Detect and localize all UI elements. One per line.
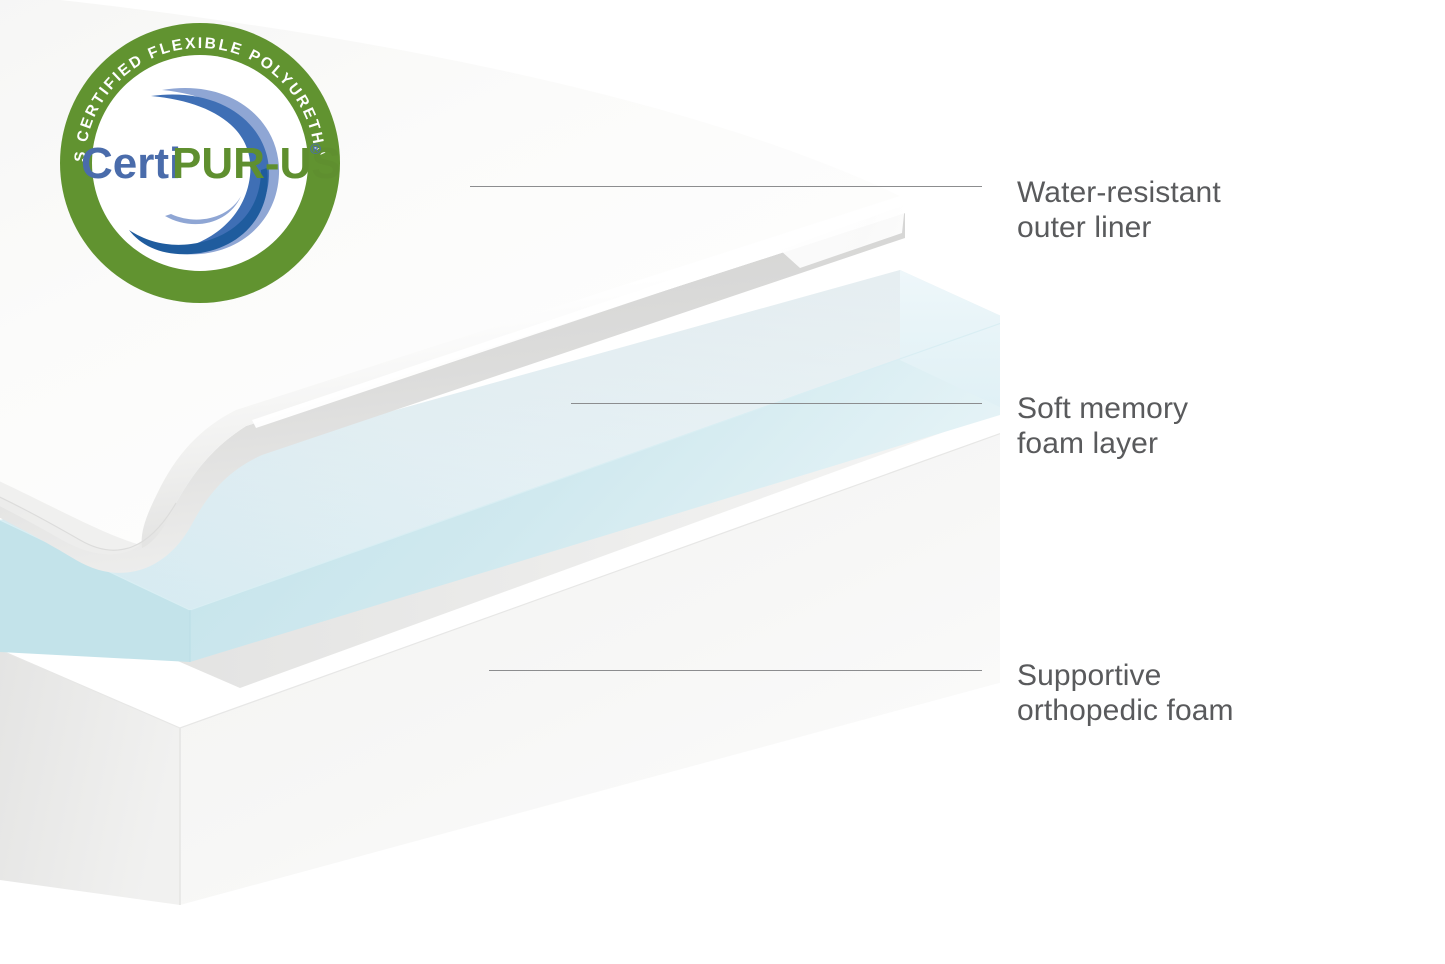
callout-label-soft-memory-foam-layer: Soft memory foam layer [1017,391,1188,462]
callout-label-water-resistant-outer-liner: Water-resistant outer liner [1017,175,1221,246]
product-diagram-canvas: CONTAINS CERTIFIED FLEXIBLE POLYURETHANE… [0,0,1445,964]
badge-wordmark: Certi PUR-US ® [81,139,341,188]
badge-wordmark-certi: Certi [81,139,181,188]
callout-leader-line-memory-foam [571,403,982,404]
callout-leader-line-orthopedic-foam [489,670,982,671]
orthopedic-foam-left-face [0,650,180,905]
badge-registered-mark: ® [310,141,321,158]
callout-leader-line-outer-liner [470,186,982,187]
certipur-us-badge: CONTAINS CERTIFIED FLEXIBLE POLYURETHANE… [55,18,345,308]
callout-label-supportive-orthopedic-foam: Supportive orthopedic foam [1017,658,1234,729]
